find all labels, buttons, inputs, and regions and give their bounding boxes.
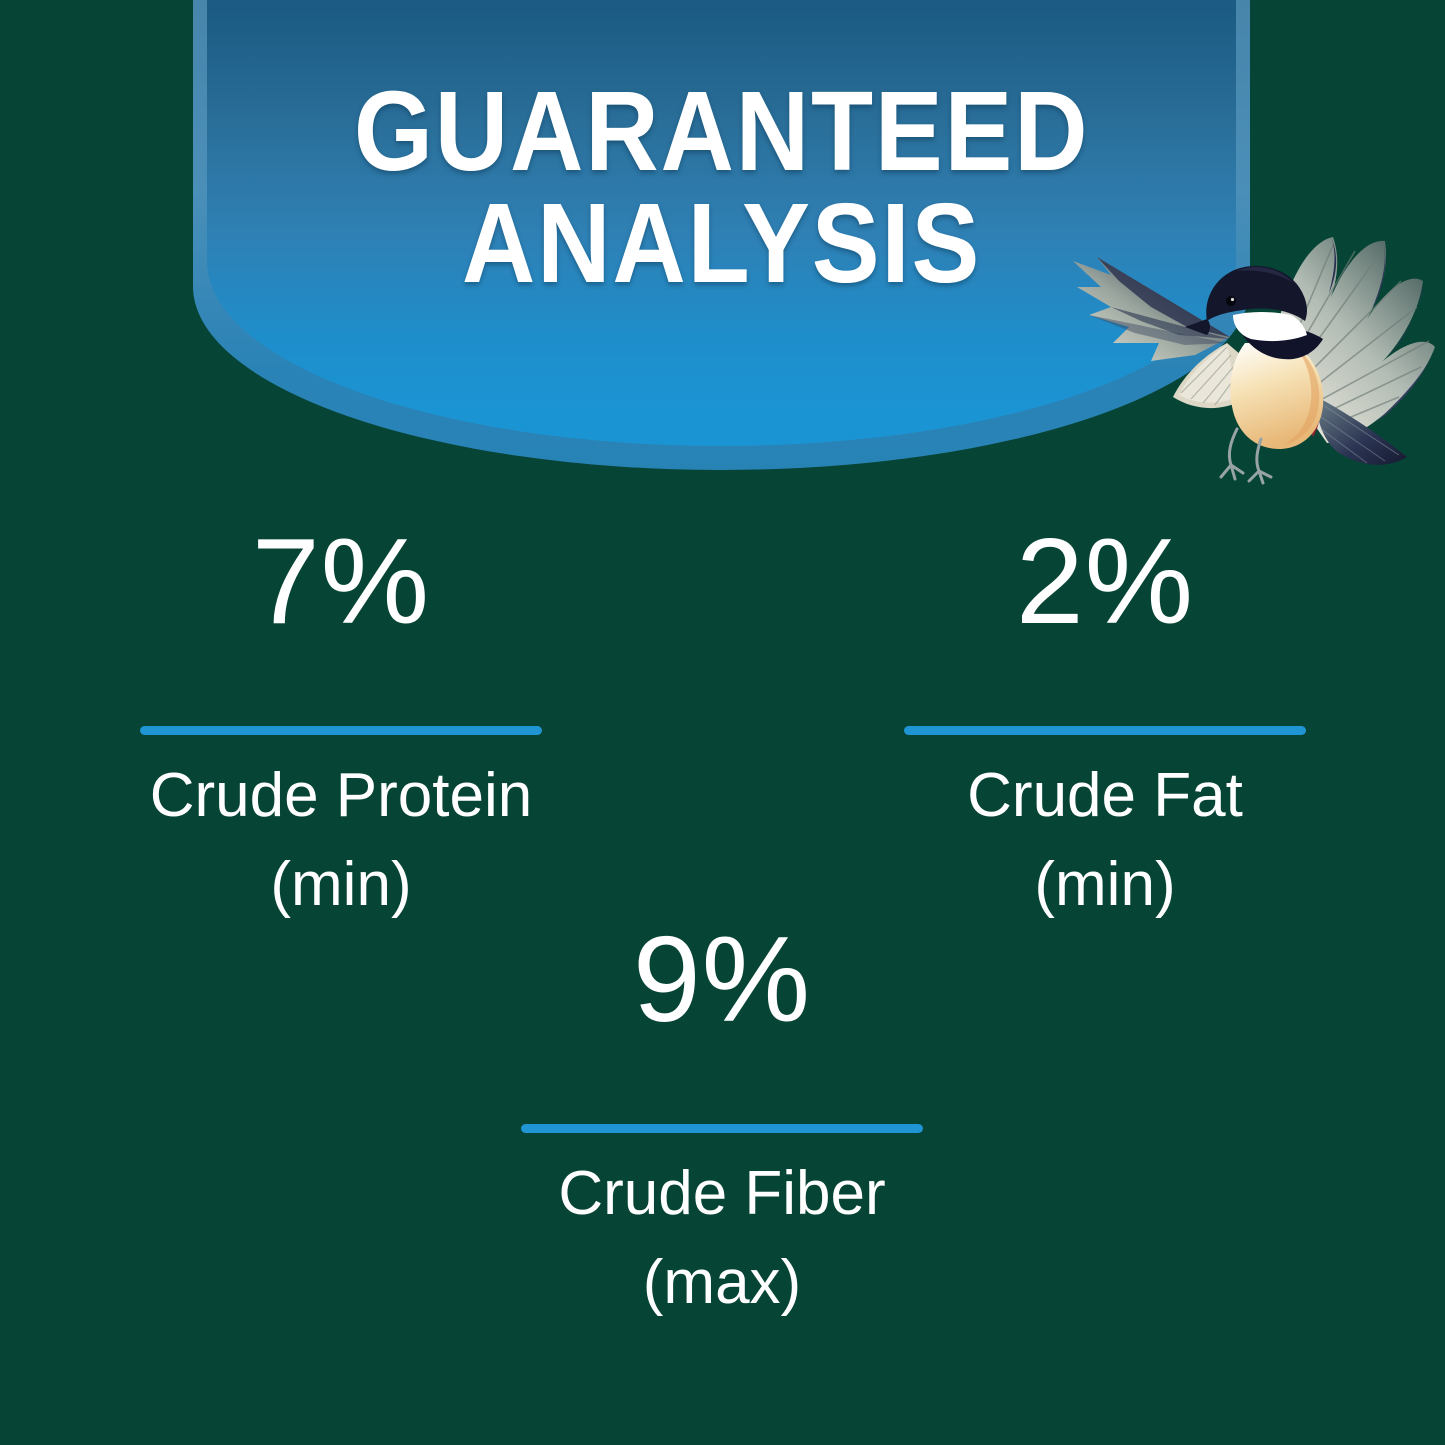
bird-left-wing <box>1073 257 1241 408</box>
stat-crude-fiber: 9% Crude Fiber (max) <box>521 918 923 1317</box>
stat-divider-crude-fat <box>904 726 1306 735</box>
stat-divider-crude-protein <box>140 726 542 735</box>
stat-crude-fat: 2% Crude Fat (min) <box>904 520 1306 919</box>
stat-value-crude-fat: 2% <box>1016 520 1194 642</box>
stat-qualifier-crude-fiber: (max) <box>643 1250 801 1317</box>
stat-value-crude-fiber: 9% <box>633 918 811 1040</box>
stat-label-crude-fiber: Crude Fiber <box>558 1161 885 1228</box>
stat-label-crude-protein: Crude Protein <box>150 763 533 830</box>
stat-crude-protein: 7% Crude Protein (min) <box>140 520 542 919</box>
chickadee-bird-icon <box>1055 215 1445 490</box>
bird-eye <box>1226 296 1236 306</box>
stat-value-crude-protein: 7% <box>252 520 430 642</box>
bird-body <box>1230 343 1323 449</box>
stat-label-crude-fat: Crude Fat <box>967 763 1243 830</box>
stat-qualifier-crude-fat: (min) <box>1034 852 1175 919</box>
guaranteed-analysis-panel: GUARANTEED ANALYSIS <box>0 0 1445 1445</box>
stat-divider-crude-fiber <box>521 1124 923 1133</box>
stat-qualifier-crude-protein: (min) <box>270 852 411 919</box>
